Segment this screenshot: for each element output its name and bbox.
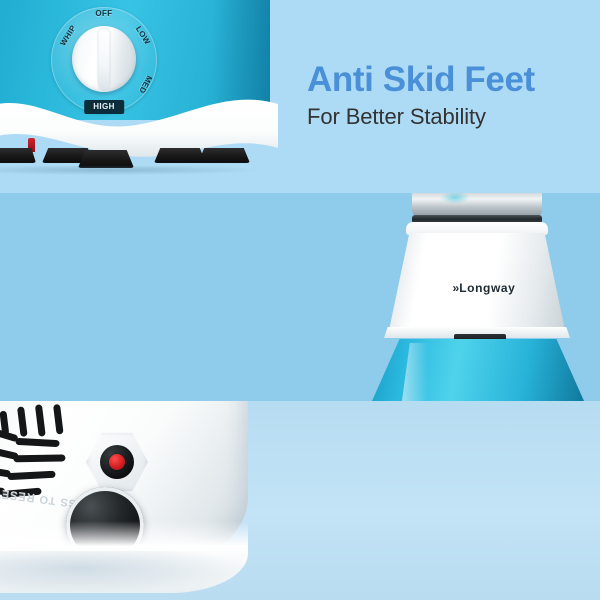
brand-logo: »Longway [368,281,600,295]
overload-reset-button [109,454,125,470]
feature-text-anti-skid-feet: Anti Skid Feet For Better Stability [307,62,535,129]
anti-skid-foot [198,148,250,163]
knob-cap [72,26,136,92]
drop-shadow [0,551,248,593]
knob-pointer [99,29,110,89]
product-photo-blender-base: WHIP OFF LOW MED HIGH [0,0,270,193]
brand-name: Longway [459,281,515,295]
dial-label-off: OFF [95,9,112,18]
feature-panel-overload-protection: PRESS TO RESET Overload Protection [0,401,600,600]
drop-shadow [0,166,260,175]
product-photo-blender-body: »Longway [368,193,600,401]
stainless-jar-base [412,193,542,217]
feature-panel-anti-skid-feet: WHIP OFF LOW MED HIGH [0,0,600,193]
feature-panel-shock-proof: Shock Proof ABS Body »Longway [0,193,600,401]
product-photo-blender-underside: PRESS TO RESET [0,401,248,600]
anti-skid-foot [154,148,206,163]
chevron-right-icon: » [453,281,458,295]
anti-skid-foot [0,148,36,163]
infographic-canvas: WHIP OFF LOW MED HIGH [0,0,600,600]
feature-subline: For Better Stability [307,104,535,129]
feature-headline: Anti Skid Feet [307,62,535,99]
